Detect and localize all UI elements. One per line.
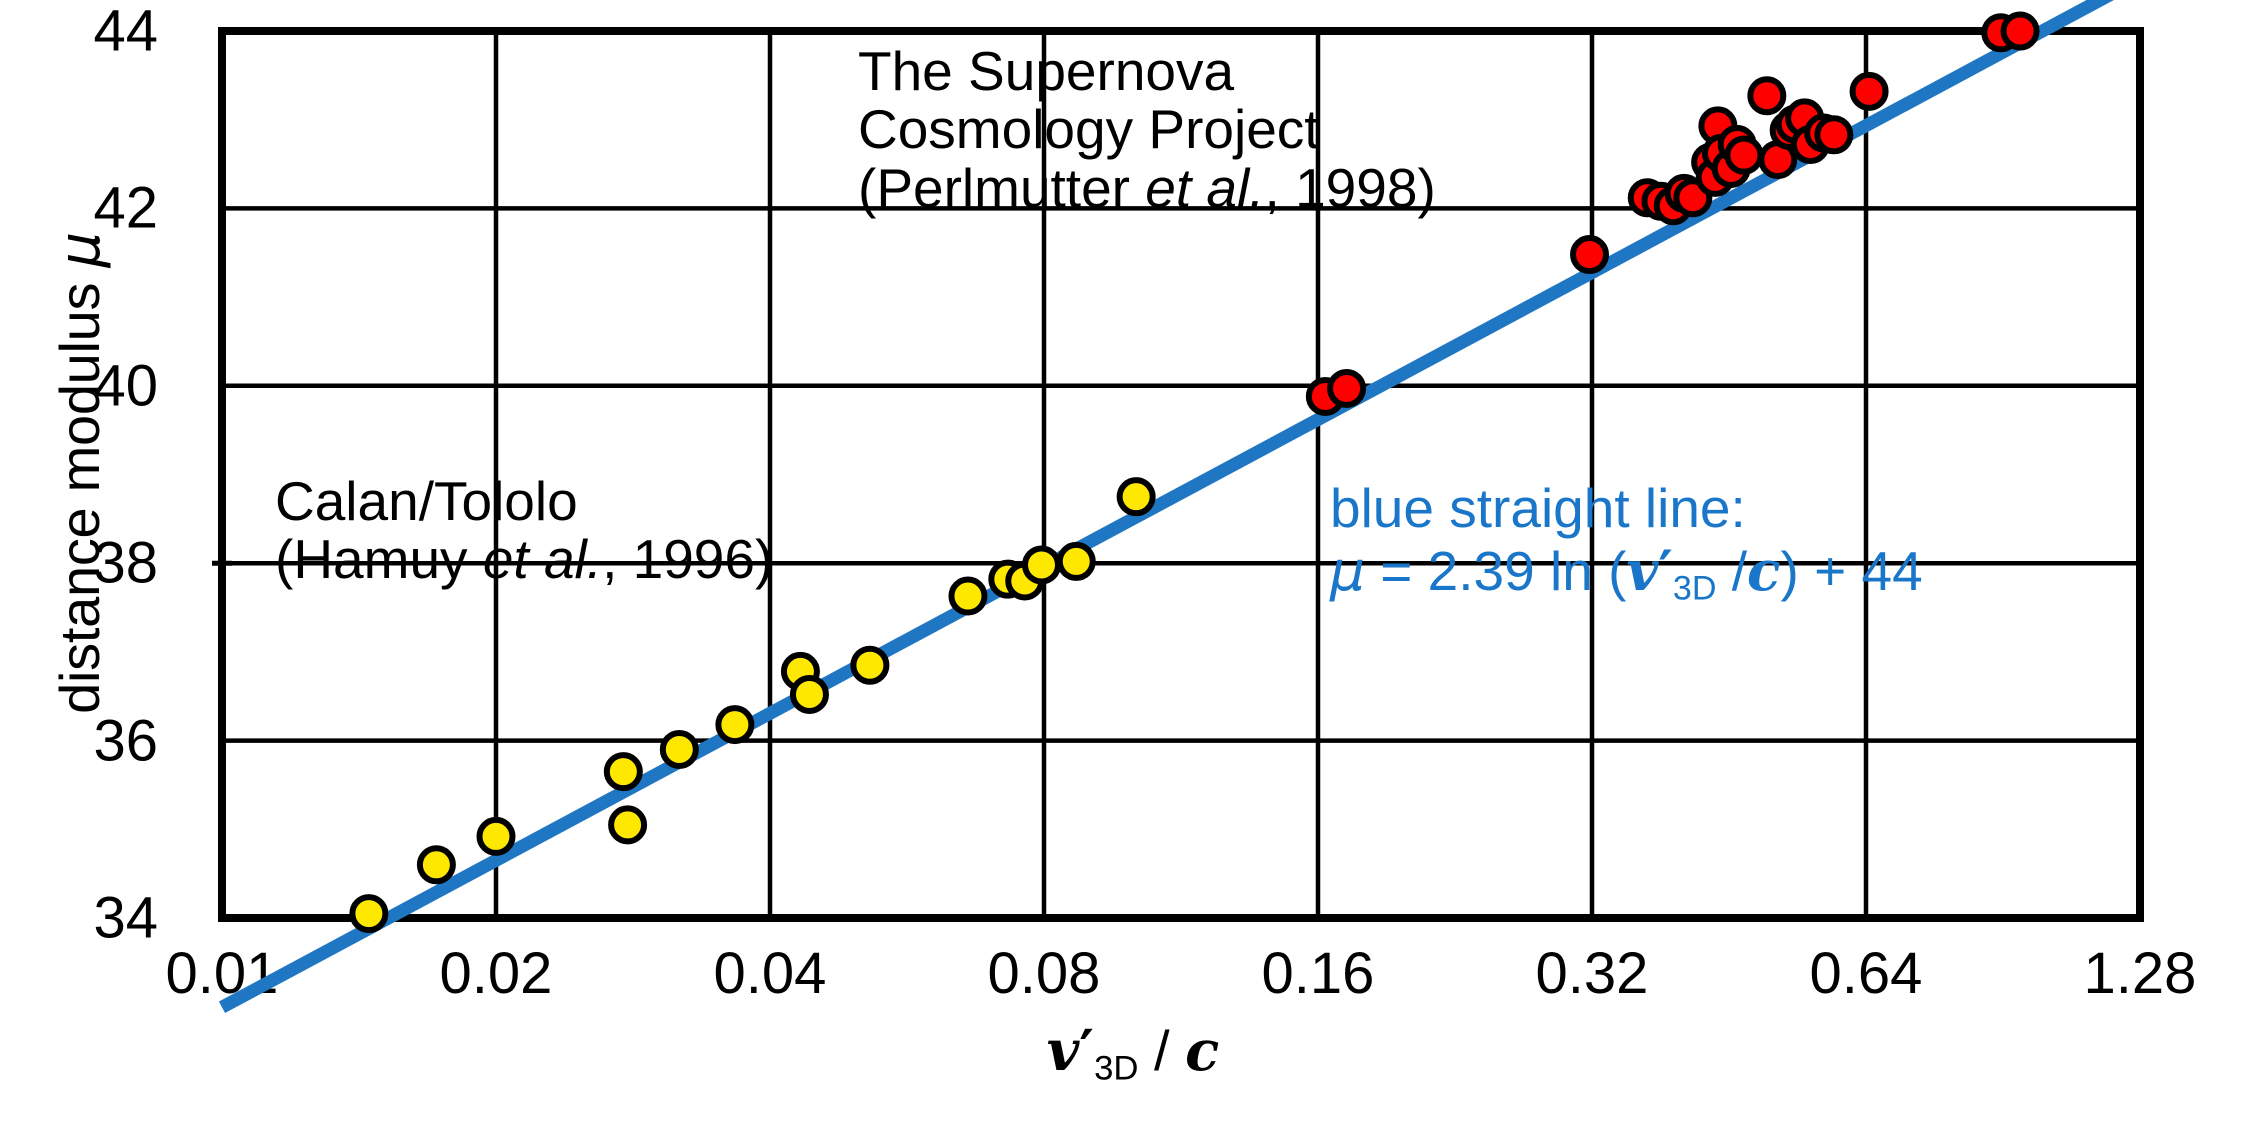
data-point <box>1817 118 1850 151</box>
data-point <box>1120 480 1153 513</box>
data-point <box>793 678 826 711</box>
calan-line-2-a: (Hamuy <box>275 528 483 590</box>
scp-line-1: The Supernova <box>858 40 1234 102</box>
scp-line-3-c: , 1998) <box>1265 157 1436 219</box>
data-point <box>607 755 640 788</box>
data-point <box>1853 75 1886 108</box>
calan-line-2-c: , 1996) <box>602 528 773 590</box>
data-point <box>480 820 513 853</box>
data-point <box>718 708 751 741</box>
fit-eq-v: v <box>1626 538 1658 603</box>
calan-line-2-etal: et al. <box>483 528 602 590</box>
scp-line-3-etal: et al. <box>1145 157 1264 219</box>
data-point <box>1025 548 1058 581</box>
data-point <box>1750 79 1783 112</box>
fit-eq-subscript: 3D <box>1673 569 1717 607</box>
annotation-fit-equation: blue straight line: μ = 2.39 ln (v′3D /c… <box>1330 478 1923 607</box>
data-point <box>420 848 453 881</box>
data-point <box>1727 139 1760 172</box>
annotation-calan-tololo: Calan/Tololo (Hamuy et al., 1996) <box>275 472 773 589</box>
fit-eq-part-b: ) + 44 <box>1781 540 1923 602</box>
fit-eq-slash: / <box>1716 540 1747 602</box>
fit-line-equation: μ = 2.39 ln (v′3D /c) + 44 <box>1330 540 1923 608</box>
chart-root: distance modulus μ 343638404244 0.010.02… <box>0 0 2266 1129</box>
scp-line-3-a: (Perlmutter <box>858 157 1145 219</box>
annotation-supernova-cosmology-project: The Supernova Cosmology Project (Perlmut… <box>858 42 1436 217</box>
data-point <box>951 580 984 613</box>
scp-line-2: Cosmology Project <box>858 98 1320 160</box>
fit-eq-prime: ′ <box>1658 538 1673 603</box>
data-point <box>1060 545 1093 578</box>
data-point <box>663 733 696 766</box>
data-point <box>1573 238 1606 271</box>
fit-line-caption: blue straight line: <box>1330 478 1923 540</box>
fit-eq-part-a: = 2.39 ln ( <box>1365 540 1626 602</box>
data-point <box>1330 372 1363 405</box>
data-point <box>352 897 385 930</box>
data-point <box>2004 15 2037 48</box>
data-point <box>853 649 886 682</box>
data-point <box>611 808 644 841</box>
fit-eq-c: c <box>1747 538 1781 603</box>
fit-eq-mu: μ <box>1330 539 1365 603</box>
calan-line-1: Calan/Tololo <box>275 470 578 532</box>
